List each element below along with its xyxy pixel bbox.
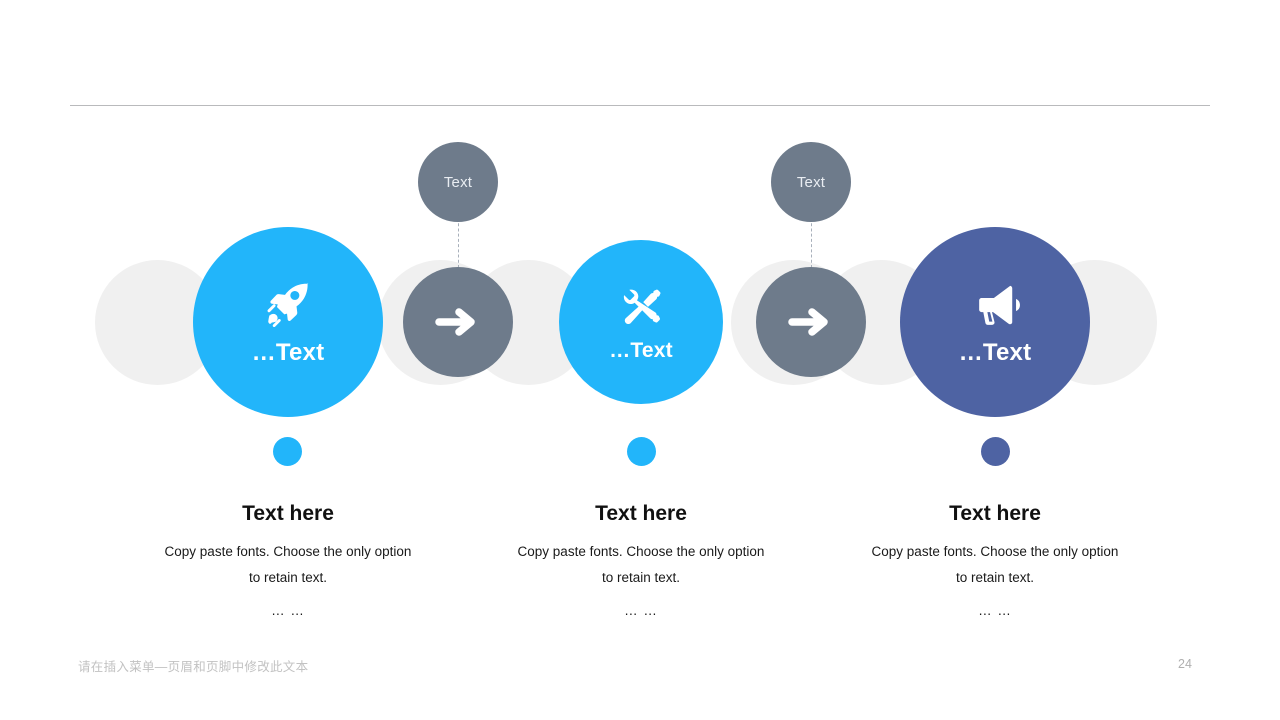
caption-column-1: Text here Copy paste fonts. Choose the o… [158,502,418,618]
caption-body-1: Copy paste fonts. Choose the only option… [158,539,418,592]
caption-body-3: Copy paste fonts. Choose the only option… [865,539,1125,592]
connector-line-2 [811,218,813,268]
step-node-label-3: …Text [959,341,1032,365]
step-node-3[interactable]: …Text [900,227,1090,417]
caption-dots-1: … … [158,603,418,618]
caption-column-3: Text here Copy paste fonts. Choose the o… [865,502,1125,618]
caption-body-2: Copy paste fonts. Choose the only option… [511,539,771,592]
step-dot-3 [981,437,1010,466]
step-node-label-1: …Text [252,341,325,365]
connector-line-1 [458,218,460,268]
step-dot-2 [627,437,656,466]
arrow-right-icon [435,302,481,342]
caption-title-3: Text here [865,502,1125,525]
slide-footer-text: 请在插入菜单—页眉和页脚中修改此文本 [78,656,308,675]
step-dot-1 [273,437,302,466]
arrow-step-node-1[interactable] [403,267,513,377]
caption-title-1: Text here [158,502,418,525]
caption-dots-2: … … [511,603,771,618]
caption-column-2: Text here Copy paste fonts. Choose the o… [511,502,771,618]
connector-bubble-label-1: Text [444,175,472,190]
tools-icon [618,284,664,330]
arrow-right-icon [788,302,834,342]
caption-dots-3: … … [865,603,1125,618]
caption-title-2: Text here [511,502,771,525]
connector-bubble-1[interactable]: Text [418,142,498,222]
rocket-icon [262,279,314,331]
slide-page-number: 24 [1178,657,1192,671]
connector-bubble-label-2: Text [797,175,825,190]
megaphone-icon [969,279,1021,331]
arrow-step-node-2[interactable] [756,267,866,377]
connector-bubble-2[interactable]: Text [771,142,851,222]
step-node-label-2: …Text [609,340,673,361]
header-divider [70,105,1210,106]
slide-canvas: Text Text …Text [0,0,1280,720]
step-node-2[interactable]: …Text [559,240,723,404]
step-node-1[interactable]: …Text [193,227,383,417]
